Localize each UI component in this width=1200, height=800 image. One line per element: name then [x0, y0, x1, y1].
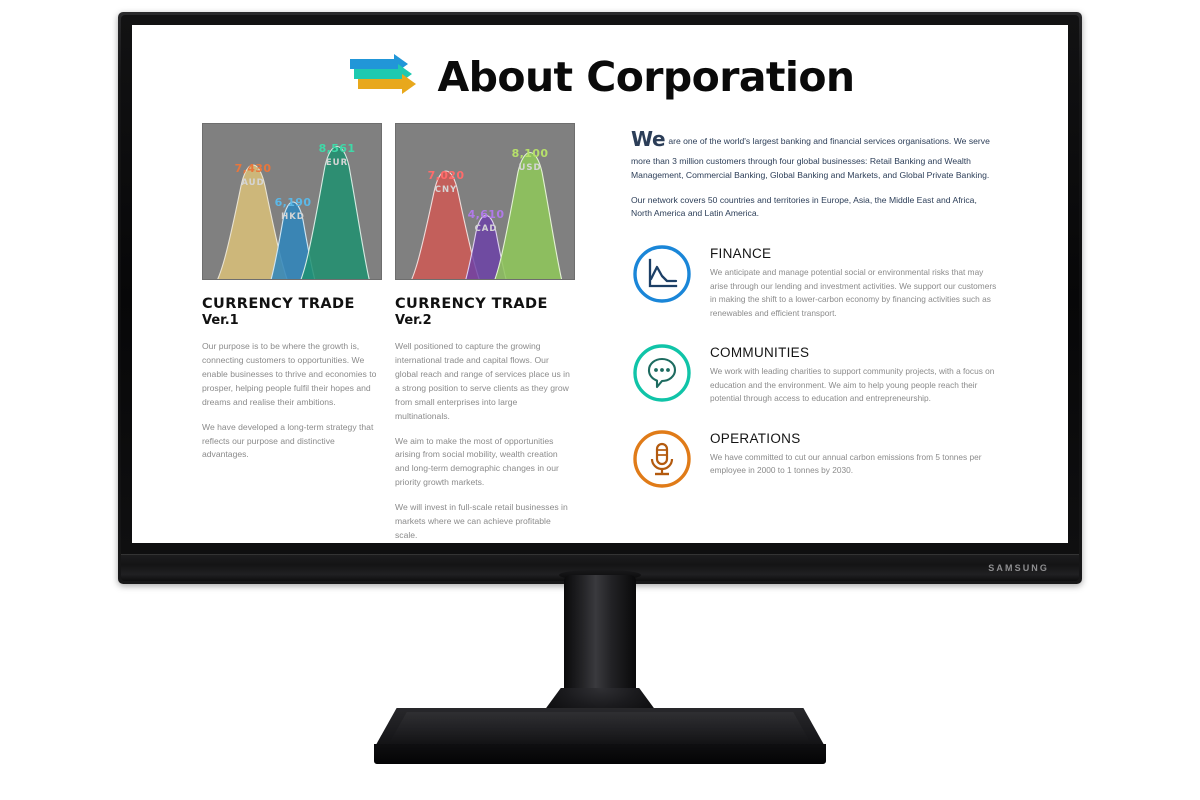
monitor-scene: About Corporation — [0, 0, 1200, 800]
intro-lead-rest: are one of the world's largest banking a… — [631, 136, 990, 180]
brand-logo: SAMSUNG — [988, 563, 1049, 573]
card-paragraph: We have developed a long-term strategy t… — [202, 421, 380, 463]
monitor-display: About Corporation — [118, 12, 1082, 584]
card-title-v2: CURRENCY TRADE Ver.2 — [395, 296, 573, 328]
monitor-screen: About Corporation — [132, 25, 1068, 543]
svg-text:CAD: CAD — [475, 224, 498, 234]
slide-header: About Corporation — [132, 53, 1068, 101]
slide-body: 7,430 AUD 6,190 HKD 8,561 EUR CURRENCY T… — [132, 101, 1068, 543]
svg-text:8,100: 8,100 — [512, 147, 549, 160]
card-paragraph: We will invest in full-scale retail busi… — [395, 501, 573, 543]
feature-description: We have committed to cut our annual carb… — [710, 451, 998, 478]
microphone-icon — [631, 428, 693, 490]
feature-title: FINANCE — [710, 246, 998, 261]
chart-panel-v2: 7,020 CNY 4,610 CAD 8,100 USD — [395, 123, 575, 280]
line-chart-icon — [631, 243, 693, 305]
card-body-v1: Our purpose is to be where the growth is… — [202, 340, 380, 462]
card-paragraph: Well positioned to capture the growing i… — [395, 340, 573, 424]
intro-paragraph-2: Our network covers 50 countries and terr… — [631, 194, 998, 222]
svg-text:6,190: 6,190 — [275, 196, 312, 209]
card-title-version: Ver.2 — [395, 313, 432, 328]
feature-finance: FINANCE We anticipate and manage potenti… — [631, 243, 998, 320]
card-title-main: CURRENCY TRADE — [202, 296, 355, 312]
feature-description: We anticipate and manage potential socia… — [710, 266, 998, 320]
chin-highlight — [121, 554, 1079, 555]
svg-text:4,610: 4,610 — [468, 208, 505, 221]
card-title-v1: CURRENCY TRADE Ver.1 — [202, 296, 380, 328]
feature-description: We work with leading charities to suppor… — [710, 365, 998, 406]
chart-panel-v1: 7,430 AUD 6,190 HKD 8,561 EUR — [202, 123, 382, 280]
card-title-version: Ver.1 — [202, 313, 239, 328]
feature-text: OPERATIONS We have committed to cut our … — [710, 428, 998, 478]
card-body-v2: Well positioned to capture the growing i… — [395, 340, 573, 543]
intro-paragraph-1: Weare one of the world's largest banking… — [631, 123, 998, 183]
feature-text: FINANCE We anticipate and manage potenti… — [710, 243, 998, 320]
intro-block: Weare one of the world's largest banking… — [631, 123, 998, 221]
stand-base-edge — [374, 744, 826, 764]
svg-text:EUR: EUR — [326, 158, 348, 168]
card-title-main: CURRENCY TRADE — [395, 296, 548, 312]
svg-text:CNY: CNY — [435, 185, 458, 195]
svg-text:USD: USD — [518, 163, 541, 173]
feature-communities: COMMUNITIES We work with leading chariti… — [631, 342, 998, 406]
svg-text:8,561: 8,561 — [319, 142, 356, 155]
presentation-slide: About Corporation — [132, 53, 1068, 543]
three-arrows-logo-icon — [346, 53, 424, 101]
info-column: Weare one of the world's largest banking… — [573, 123, 998, 543]
svg-text:HKD: HKD — [281, 212, 305, 222]
svg-text:7,430: 7,430 — [235, 162, 272, 175]
feature-title: OPERATIONS — [710, 431, 998, 446]
feature-text: COMMUNITIES We work with leading chariti… — [710, 342, 998, 406]
feature-title: COMMUNITIES — [710, 345, 998, 360]
page-title: About Corporation — [438, 57, 855, 98]
stand-base-highlight — [390, 712, 810, 742]
card-currency-trade-v2: 7,020 CNY 4,610 CAD 8,100 USD CURRENCY T… — [395, 123, 573, 543]
card-paragraph: Our purpose is to be where the growth is… — [202, 340, 380, 410]
charts-column: 7,430 AUD 6,190 HKD 8,561 EUR CURRENCY T… — [202, 123, 573, 543]
svg-text:7,020: 7,020 — [428, 169, 465, 182]
card-paragraph: We aim to make the most of opportunities… — [395, 435, 573, 491]
card-currency-trade-v1: 7,430 AUD 6,190 HKD 8,561 EUR CURRENCY T… — [202, 123, 380, 543]
svg-text:AUD: AUD — [241, 178, 264, 188]
speech-bubble-icon — [631, 342, 693, 404]
feature-operations: OPERATIONS We have committed to cut our … — [631, 428, 998, 490]
intro-lead-word: We — [631, 127, 665, 151]
